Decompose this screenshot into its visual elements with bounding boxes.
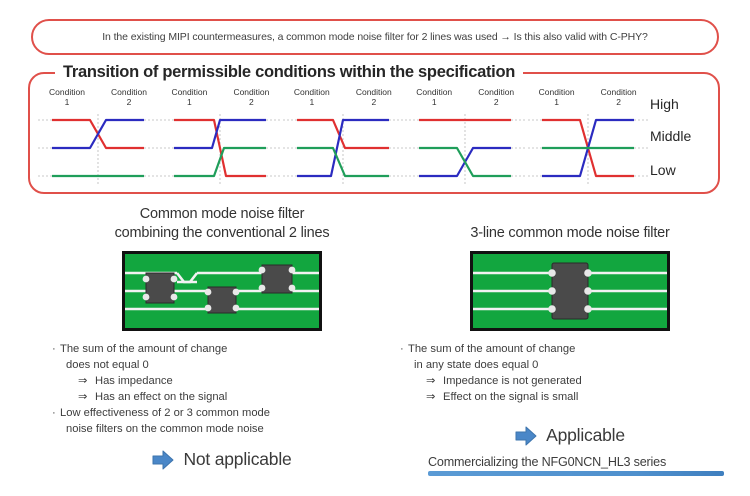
condition-label-1: Condition 1 bbox=[526, 88, 588, 107]
condition-number: 2 bbox=[465, 98, 527, 108]
left-arrow-1-text: Has impedance bbox=[95, 375, 173, 387]
question-text: In the existing MIPI countermeasures, a … bbox=[102, 31, 648, 43]
condition-number: 2 bbox=[98, 98, 160, 108]
condition-word: Condition bbox=[601, 87, 637, 97]
waveform-2 bbox=[158, 110, 282, 188]
left-heading: Common mode noise filter combining the c… bbox=[52, 205, 392, 243]
condition-label-2: Condition 2 bbox=[588, 88, 650, 107]
condition-number: 2 bbox=[220, 98, 282, 108]
condition-word: Condition bbox=[356, 87, 392, 97]
specification-title: Transition of permissible conditions wit… bbox=[55, 63, 523, 82]
condition-word: Condition bbox=[294, 87, 330, 97]
condition-word: Condition bbox=[49, 87, 85, 97]
pcb-3line-filter-diagram bbox=[470, 251, 670, 331]
waveform-5 bbox=[526, 110, 650, 188]
condition-label-2: Condition 2 bbox=[98, 88, 160, 107]
condition-word: Condition bbox=[539, 87, 575, 97]
right-arrow-icon bbox=[515, 426, 537, 446]
right-bullets: ·The sum of the amount of change in any … bbox=[400, 341, 740, 405]
transition-panel-4: Condition 1 Condition 2 bbox=[403, 88, 525, 188]
implies-arrow-icon: ⇒ bbox=[426, 373, 443, 389]
transition-panel-3: Condition 1 Condition 2 bbox=[281, 88, 403, 188]
condition-number: 1 bbox=[403, 98, 465, 108]
right-verdict-text: Applicable bbox=[546, 425, 625, 446]
condition-number: 2 bbox=[343, 98, 405, 108]
left-arrow-2: ⇒Has an effect on the signal bbox=[52, 389, 392, 405]
left-bullet-2-text: Low effectiveness of 2 or 3 common mode bbox=[60, 407, 270, 419]
right-column: 3-line common mode noise filter bbox=[400, 205, 740, 446]
level-middle-label: Middle bbox=[650, 128, 691, 144]
left-arrow-1: ⇒Has impedance bbox=[52, 373, 392, 389]
right-verdict: Applicable bbox=[400, 425, 740, 446]
right-heading-line1: 3-line common mode noise filter bbox=[400, 224, 740, 243]
condition-word: Condition bbox=[416, 87, 452, 97]
condition-number: 1 bbox=[36, 98, 98, 108]
commercializing-underline-bar bbox=[428, 471, 724, 476]
waveform-1 bbox=[36, 110, 160, 188]
left-pcb-wrap bbox=[52, 251, 392, 331]
condition-number: 2 bbox=[588, 98, 650, 108]
left-verdict-text: Not applicable bbox=[183, 449, 291, 470]
right-heading: 3-line common mode noise filter bbox=[400, 205, 740, 243]
condition-word: Condition bbox=[478, 87, 514, 97]
transition-panel-2: Condition 1 Condition 2 bbox=[158, 88, 280, 188]
right-arrow-2: ⇒Effect on the signal is small bbox=[400, 389, 740, 405]
question-callout: In the existing MIPI countermeasures, a … bbox=[31, 19, 719, 55]
condition-label-1: Condition 1 bbox=[158, 88, 220, 107]
left-heading-line2: combining the conventional 2 lines bbox=[52, 224, 392, 243]
condition-number: 1 bbox=[158, 98, 220, 108]
condition-label-2: Condition 2 bbox=[220, 88, 282, 107]
left-bullet-1-text: The sum of the amount of change bbox=[60, 343, 227, 355]
condition-label-1: Condition 1 bbox=[403, 88, 465, 107]
commercializing-text: Commercializing the NFG0NCN_HL3 series bbox=[428, 455, 728, 469]
commercializing-banner: Commercializing the NFG0NCN_HL3 series bbox=[428, 455, 728, 476]
waveform-4 bbox=[403, 110, 527, 188]
implies-arrow-icon: ⇒ bbox=[426, 389, 443, 405]
level-low-label: Low bbox=[650, 162, 676, 178]
left-bullet-1-cont: does not equal 0 bbox=[52, 357, 392, 373]
condition-label-2: Condition 2 bbox=[465, 88, 527, 107]
implies-arrow-icon: ⇒ bbox=[78, 389, 95, 405]
right-arrow-1: ⇒Impedance is not generated bbox=[400, 373, 740, 389]
right-arrow-2-text: Effect on the signal is small bbox=[443, 391, 578, 403]
left-bullets: ·The sum of the amount of change does no… bbox=[52, 341, 392, 437]
left-bullet-1: ·The sum of the amount of change bbox=[52, 341, 392, 357]
right-bullet-1: ·The sum of the amount of change bbox=[400, 341, 740, 357]
condition-word: Condition bbox=[233, 87, 269, 97]
condition-number: 1 bbox=[281, 98, 343, 108]
condition-label-1: Condition 1 bbox=[36, 88, 98, 107]
condition-label-1: Condition 1 bbox=[281, 88, 343, 107]
slide-root: In the existing MIPI countermeasures, a … bbox=[0, 0, 750, 496]
implies-arrow-icon: ⇒ bbox=[78, 373, 95, 389]
transition-panel-5: Condition 1 Condition 2 bbox=[526, 88, 648, 188]
bullet-dot: · bbox=[400, 341, 408, 357]
level-labels: High Middle Low bbox=[650, 96, 746, 188]
pcb-2line-filter-diagram bbox=[122, 251, 322, 331]
waveform-3 bbox=[281, 110, 405, 188]
left-bullet-2-cont: noise filters on the common mode noise bbox=[52, 421, 392, 437]
left-heading-line1: Common mode noise filter bbox=[52, 205, 392, 224]
condition-word: Condition bbox=[111, 87, 147, 97]
left-column: Common mode noise filter combining the c… bbox=[52, 205, 392, 470]
left-verdict: Not applicable bbox=[52, 449, 392, 470]
bullet-dot: · bbox=[52, 341, 60, 357]
left-arrow-2-text: Has an effect on the signal bbox=[95, 391, 227, 403]
condition-number: 1 bbox=[526, 98, 588, 108]
transition-panel-1: Condition 1 Condition 2 bbox=[36, 88, 158, 188]
condition-word: Condition bbox=[171, 87, 207, 97]
right-bullet-1-cont: in any state does equal 0 bbox=[400, 357, 740, 373]
right-arrow-icon bbox=[152, 450, 174, 470]
right-pcb-wrap bbox=[400, 251, 740, 331]
right-bullet-1-text: The sum of the amount of change bbox=[408, 343, 575, 355]
transition-panels: Condition 1 Condition 2 bbox=[36, 88, 648, 188]
level-high-label: High bbox=[650, 96, 679, 112]
bullet-dot: · bbox=[52, 405, 60, 421]
condition-label-2: Condition 2 bbox=[343, 88, 405, 107]
left-bullet-2: ·Low effectiveness of 2 or 3 common mode bbox=[52, 405, 392, 421]
right-arrow-1-text: Impedance is not generated bbox=[443, 375, 582, 387]
